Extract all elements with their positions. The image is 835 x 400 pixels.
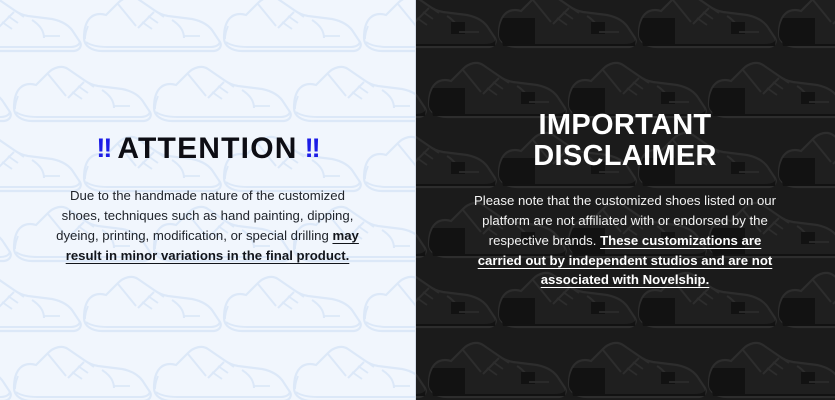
disclaimer-heading-line-1: IMPORTANT	[533, 110, 716, 141]
disclaimer-banner: !!ATTENTION!! Due to the handmade nature…	[0, 0, 835, 400]
double-exclamation-icon-left: !!	[96, 135, 110, 162]
disclaimer-heading-line-2: DISCLAIMER	[533, 141, 716, 172]
disclaimer-content: IMPORTANT DISCLAIMER Please note that th…	[415, 0, 835, 400]
attention-heading-text: ATTENTION	[117, 134, 297, 164]
panel-divider	[415, 0, 416, 400]
attention-content: !!ATTENTION!! Due to the handmade nature…	[0, 0, 415, 400]
double-exclamation-icon-right: !!	[305, 135, 319, 162]
attention-body-normal: Due to the handmade nature of the custom…	[56, 188, 353, 243]
attention-heading: !!ATTENTION!!	[89, 134, 325, 164]
attention-panel: !!ATTENTION!! Due to the handmade nature…	[0, 0, 415, 400]
disclaimer-body: Please note that the customized shoes li…	[466, 191, 784, 290]
attention-body: Due to the handmade nature of the custom…	[53, 186, 363, 266]
disclaimer-panel: IMPORTANT DISCLAIMER Please note that th…	[415, 0, 835, 400]
disclaimer-heading: IMPORTANT DISCLAIMER	[533, 110, 716, 171]
